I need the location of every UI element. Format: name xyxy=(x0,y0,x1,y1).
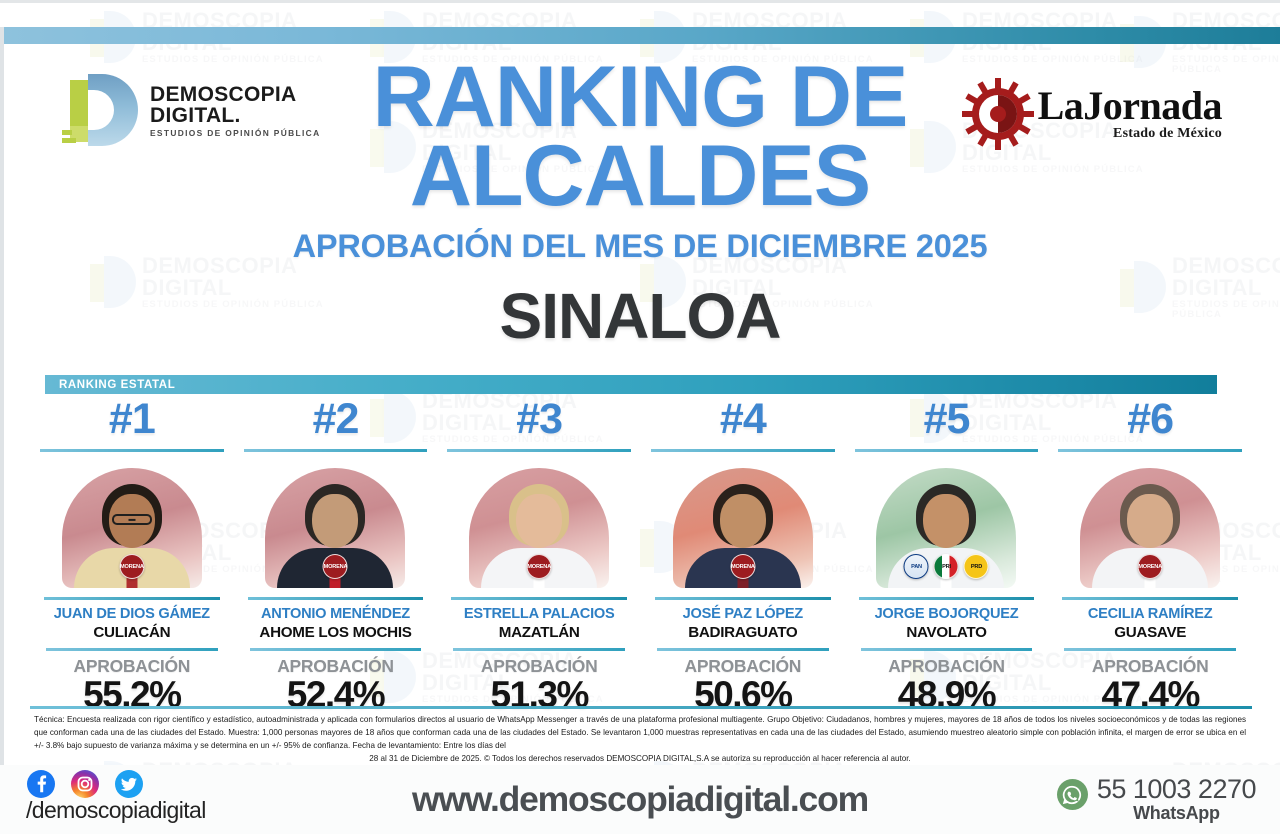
approval-divider xyxy=(1064,648,1236,651)
party-badge-morena: MORENA xyxy=(119,554,144,579)
person-face xyxy=(720,494,766,548)
photo-divider xyxy=(44,597,220,600)
rank-divider xyxy=(244,449,428,452)
ranking-card: #5PANPRIPRDJORGE BOJORQUEZNAVOLATOAPROBA… xyxy=(845,398,1049,714)
candidate-name: JORGE BOJORQUEZ xyxy=(845,607,1049,622)
candidate-photo: MORENA xyxy=(1080,468,1220,588)
rank-divider xyxy=(447,449,631,452)
party-badge-morena: MORENA xyxy=(730,554,755,579)
party-badges: MORENA xyxy=(1138,554,1163,579)
approval-divider xyxy=(250,648,422,651)
ranking-card: #4MORENAJOSÉ PAZ LÓPEZBADIRAGUATOAPROBAC… xyxy=(641,398,845,714)
partner-name: LaJornada xyxy=(1038,87,1222,125)
candidate-name: JUAN DE DIOS GÁMEZ xyxy=(30,607,234,622)
top-accent-bar xyxy=(0,27,1280,44)
party-badge-pan: PAN xyxy=(904,554,929,579)
approval-divider xyxy=(861,648,1033,651)
rank-divider xyxy=(651,449,835,452)
candidate-city: GUASAVE xyxy=(1048,625,1252,641)
photo-divider xyxy=(655,597,831,600)
candidate-name: ESTRELLA PALACIOS xyxy=(437,607,641,622)
photo-divider xyxy=(451,597,627,600)
ranking-grid: #1MORENAJUAN DE DIOS GÁMEZCULIACÁNAPROBA… xyxy=(30,398,1252,714)
candidate-city: MAZATLÁN xyxy=(437,625,641,641)
ranking-card: #6MORENACECILIA RAMÍREZGUASAVEAPROBACIÓN… xyxy=(1048,398,1252,714)
party-badges: PANPRIPRD xyxy=(904,554,989,579)
whatsapp-block: 55 1003 2270 WhatsApp xyxy=(1057,775,1256,824)
candidate-photo: MORENA xyxy=(62,468,202,588)
lajornada-logo: LaJornada Estado de México xyxy=(962,78,1222,150)
photo-divider xyxy=(859,597,1035,600)
candidate-photo: PANPRIPRD xyxy=(876,468,1016,588)
candidate-city: BADIRAGUATO xyxy=(641,625,845,641)
party-badges: MORENA xyxy=(323,554,348,579)
party-badge-morena: MORENA xyxy=(1138,554,1163,579)
ranking-card: #2MORENAANTONIO MENÉNDEZAHOME LOS MOCHIS… xyxy=(234,398,438,714)
candidate-photo: MORENA xyxy=(469,468,609,588)
candidate-city: NAVOLATO xyxy=(845,625,1049,641)
whatsapp-number: 55 1003 2270 xyxy=(1097,775,1256,803)
ranking-card: #3MORENAESTRELLA PALACIOSMAZATLÁNAPROBAC… xyxy=(437,398,641,714)
candidate-photo: MORENA xyxy=(265,468,405,588)
header: DEMOSCOPIA DIGITAL. ESTUDIOS DE OPINIÓN … xyxy=(0,50,1280,360)
methodology-copyright: 28 al 31 de Diciembre de 2025. © Todos l… xyxy=(34,752,1246,765)
whatsapp-icon[interactable] xyxy=(1057,779,1088,810)
rank-number: #3 xyxy=(437,398,641,441)
footer-bar: /demoscopiadigital www.demoscopiadigital… xyxy=(0,765,1280,834)
person-face xyxy=(923,494,969,548)
party-badge-morena: MORENA xyxy=(527,554,552,579)
candidate-name: ANTONIO MENÉNDEZ xyxy=(234,607,438,622)
rank-divider xyxy=(40,449,224,452)
approval-divider xyxy=(46,648,218,651)
party-badge-prd: PRD xyxy=(964,554,989,579)
ranking-estatal-label: RANKING ESTATAL xyxy=(45,379,175,391)
top-edge-line xyxy=(0,0,1280,3)
grid-bottom-rule xyxy=(30,706,1252,709)
person-face xyxy=(1127,494,1173,548)
party-badges: MORENA xyxy=(527,554,552,579)
rank-divider xyxy=(1058,449,1242,452)
methodology-text: Técnica: Encuesta realizada con rigor ci… xyxy=(34,715,1246,750)
rank-number: #5 xyxy=(845,398,1049,441)
candidate-name: JOSÉ PAZ LÓPEZ xyxy=(641,607,845,622)
rank-number: #1 xyxy=(30,398,234,441)
partner-sub: Estado de México xyxy=(1038,126,1222,142)
approval-divider xyxy=(453,648,625,651)
ranking-card: #1MORENAJUAN DE DIOS GÁMEZCULIACÁNAPROBA… xyxy=(30,398,234,714)
person-glasses-icon xyxy=(112,514,152,525)
party-badges: MORENA xyxy=(119,554,144,579)
photo-divider xyxy=(248,597,424,600)
lajornada-gear-icon xyxy=(962,78,1034,150)
person-face xyxy=(516,494,562,548)
rank-number: #2 xyxy=(234,398,438,441)
candidate-photo: MORENA xyxy=(673,468,813,588)
candidate-name: CECILIA RAMÍREZ xyxy=(1048,607,1252,622)
party-badge-morena: MORENA xyxy=(323,554,348,579)
candidate-city: AHOME LOS MOCHIS xyxy=(234,625,438,641)
rank-number: #4 xyxy=(641,398,845,441)
title-subtitle: APROBACIÓN DEL MES DE DICIEMBRE 2025 xyxy=(0,228,1280,265)
ranking-estatal-bar: RANKING ESTATAL xyxy=(45,375,1217,394)
approval-divider xyxy=(657,648,829,651)
state-name: SINALOA xyxy=(0,279,1280,353)
rank-number: #6 xyxy=(1048,398,1252,441)
whatsapp-label: WhatsApp xyxy=(1097,803,1256,824)
person-face xyxy=(312,494,358,548)
photo-divider xyxy=(1062,597,1238,600)
party-badge-pri: PRI xyxy=(934,554,959,579)
rank-divider xyxy=(855,449,1039,452)
methodology-note: Técnica: Encuesta realizada con rigor ci… xyxy=(34,713,1246,765)
party-badges: MORENA xyxy=(730,554,755,579)
poster-root: DEMOSCOPIADIGITALESTUDIOS DE OPINIÓN PÚB… xyxy=(0,0,1280,834)
candidate-city: CULIACÁN xyxy=(30,625,234,641)
